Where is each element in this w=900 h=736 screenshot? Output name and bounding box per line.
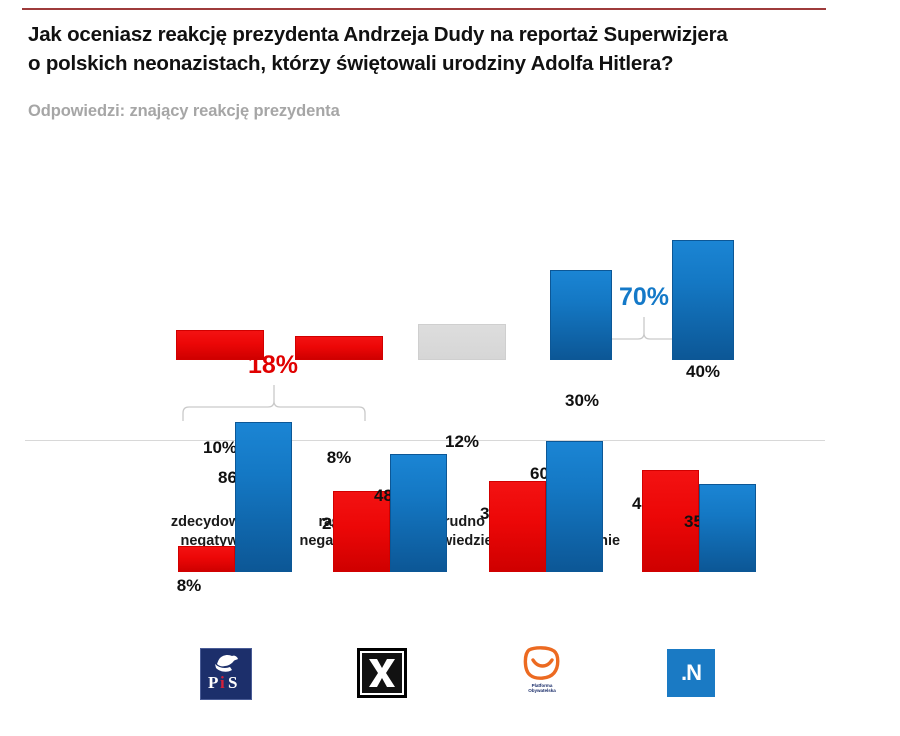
brace-negative	[180, 385, 368, 421]
top-rule	[22, 8, 826, 10]
po-logo-text: Platforma Obywatelska	[528, 683, 556, 693]
bar-value-3: 30%	[534, 391, 630, 411]
page-title-line2: o polskich neonazistach, którzy świętowa…	[28, 49, 858, 78]
party-3-positive-bar	[699, 484, 756, 572]
page-title-line1: Jak oceniasz reakcję prezydenta Andrzeja…	[28, 23, 728, 46]
bar-value-2: 12%	[414, 432, 510, 452]
kukiz-logo-inner	[360, 651, 404, 695]
page-subtitle: Odpowiedzi: znający reakcję prezydenta	[28, 102, 340, 121]
po-shield-icon	[521, 646, 563, 682]
svg-text:i: i	[220, 673, 225, 692]
kukiz-x-icon	[365, 656, 399, 690]
party-2-positive-bar	[546, 441, 603, 572]
bar-raczej-pozytywnie	[550, 270, 612, 360]
bar-trudno-powiedziec	[418, 324, 506, 360]
bar-zdecydowanie-pozytywnie	[672, 240, 734, 360]
nowoczesna-logo: .N	[667, 649, 715, 697]
party-0-negative-bar	[178, 546, 235, 572]
bar-zdecydowanie-negatywnie	[176, 330, 264, 360]
svg-text:S: S	[228, 673, 237, 692]
po-logo: Platforma Obywatelska	[512, 646, 572, 700]
poll-infographic: Jak oceniasz reakcję prezydenta Andrzeja…	[0, 0, 900, 736]
pis-logo: P i S	[200, 648, 252, 700]
party-0-positive-bar	[235, 422, 292, 572]
svg-text:P: P	[208, 673, 218, 692]
chart-by-party: 8% 86% P i S 28% 48% 36%	[0, 450, 900, 736]
bar-raczej-negatywnie	[295, 336, 383, 360]
page-title: Jak oceniasz reakcję prezydenta Andrzeja…	[28, 20, 858, 78]
party-2-negative-bar	[489, 481, 546, 572]
pis-logo-mark: P i S	[203, 651, 249, 697]
kukiz-logo	[357, 648, 407, 698]
party-1-positive-bar	[390, 454, 447, 572]
party-0-negative-value: 8%	[146, 576, 232, 596]
po-logo-line2: Obywatelska	[528, 688, 556, 693]
chart-overall-response: 18% 70% 10% zdecydowanie negatywnie 8% r…	[0, 140, 900, 430]
bar-value-4: 40%	[655, 362, 751, 382]
nowoczesna-logo-text: .N	[681, 662, 701, 684]
